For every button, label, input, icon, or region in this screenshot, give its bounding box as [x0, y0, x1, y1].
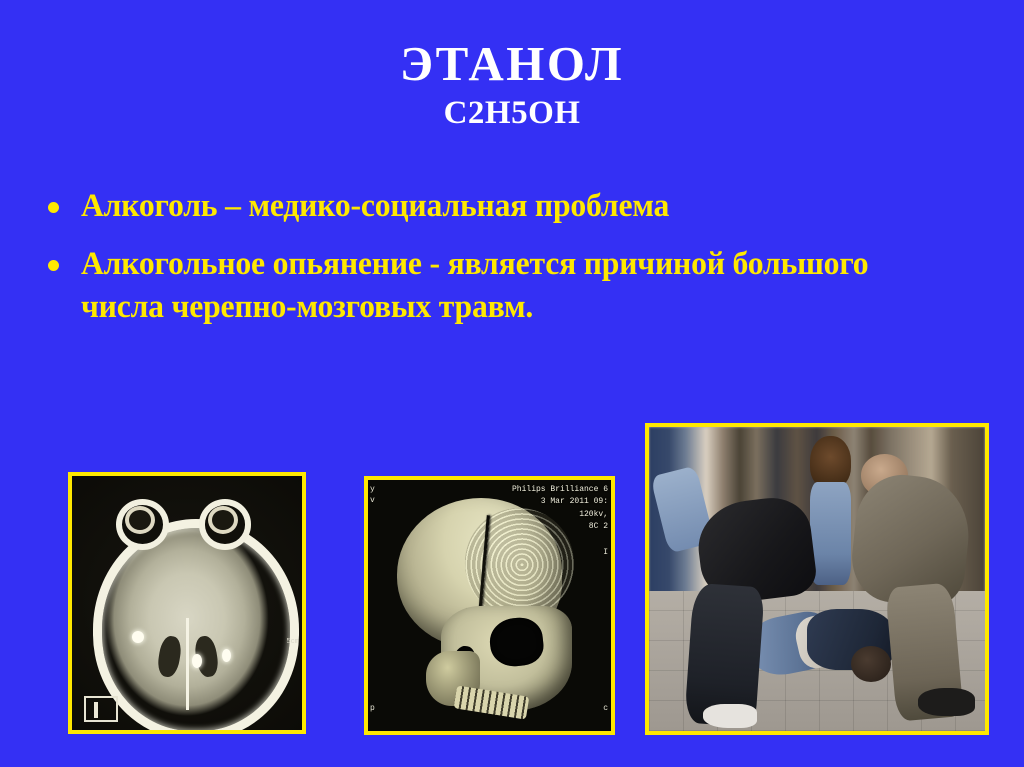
ct-skull-image: Philips Brilliance 6 3 Mar 2011 09: 120k…	[364, 476, 615, 735]
ct-scale-marker-label: 5cm	[286, 638, 299, 646]
bullet-dot-icon	[48, 202, 59, 213]
attacker-figure-shape	[918, 688, 975, 715]
scanner-kv-label: 120kv,	[512, 509, 608, 521]
ventricle-left-shape	[156, 635, 183, 678]
orbit-lens-right-shape	[208, 506, 238, 534]
ct-brain-inner: 5cm	[72, 476, 302, 730]
ct-brain-scan-graphic: 5cm	[72, 476, 302, 730]
bystander-figure-shape	[810, 436, 850, 488]
ct-corner-marker-icon	[84, 696, 118, 722]
street-fight-image	[645, 423, 989, 735]
scanner-corner-label: v	[370, 496, 375, 505]
list-item: Алкоголь – медико-социальная проблема	[48, 185, 998, 229]
hyperdense-focus-shape	[222, 649, 231, 662]
attacker-figure-shape	[703, 704, 757, 728]
ct-brain-image: 5cm	[68, 472, 306, 734]
bullet-text: Алкогольное опьянение - является причино…	[81, 243, 945, 330]
list-item: Алкогольное опьянение - является причино…	[48, 243, 998, 330]
victim-figure-shape	[851, 646, 891, 682]
street-fight-graphic	[649, 427, 985, 731]
ct-skull-scan-graphic: Philips Brilliance 6 3 Mar 2011 09: 120k…	[368, 480, 611, 731]
bullet-dot-icon	[48, 260, 59, 271]
ct-skull-inner: Philips Brilliance 6 3 Mar 2011 09: 120k…	[368, 480, 611, 731]
bullet-text: Алкоголь – медико-социальная проблема	[81, 185, 669, 229]
scanner-overlay-text: Philips Brilliance 6 3 Mar 2011 09: 120k…	[512, 484, 608, 534]
orbit-lens-left-shape	[125, 506, 155, 534]
scanner-model-label: Philips Brilliance 6	[512, 484, 608, 496]
scanner-corner-label: c	[603, 704, 608, 713]
ct-midline-shape	[186, 618, 189, 709]
scanner-series-label: 8C 2	[512, 521, 608, 533]
scanner-corner-label: y	[370, 485, 375, 494]
scanner-date-label: 3 Mar 2011 09:	[512, 496, 608, 508]
hyperdense-focus-shape	[192, 654, 202, 668]
bystander-figure-shape	[810, 482, 850, 585]
hyperdense-focus-shape	[132, 631, 144, 643]
bullet-list: Алкоголь – медико-социальная проблема Ал…	[48, 185, 998, 344]
scanner-corner-label: I	[603, 548, 608, 557]
scanner-corner-label: p	[370, 704, 375, 713]
title-block: ЭТАНОЛ C2H5OH	[0, 38, 1024, 132]
street-fight-inner	[649, 427, 985, 731]
chemical-formula-subtitle: C2H5OH	[0, 95, 1024, 132]
page-title: ЭТАНОЛ	[0, 38, 1024, 89]
slide-canvas: ЭТАНОЛ C2H5OH Алкоголь – медико-социальн…	[0, 0, 1024, 767]
